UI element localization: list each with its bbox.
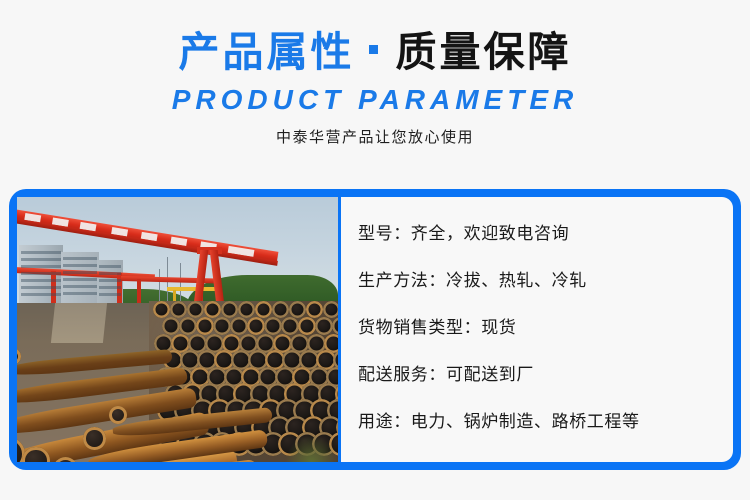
- photo-pipe-end: [323, 301, 338, 318]
- product-photo: [17, 197, 338, 462]
- photo-building-window-row: [99, 272, 121, 275]
- photo-pipe-end: [196, 317, 214, 335]
- photo-building-window-row: [63, 285, 97, 288]
- parameter-row-delivery-service: 配送服务：可配送到厂: [358, 364, 733, 386]
- page-subtitle-chinese: 中泰华营产品让您放心使用: [0, 128, 750, 148]
- photo-pipe-end: [170, 301, 187, 318]
- photo-building-window-row: [21, 265, 61, 268]
- page-title: 产品属性质量保障: [0, 28, 750, 76]
- photo-long-pipe-end: [83, 427, 106, 450]
- photo-pipe-end: [230, 317, 248, 335]
- photo-pipe-end: [272, 301, 289, 318]
- photo-building-window-row: [99, 293, 121, 296]
- photo-pipe-end: [162, 317, 180, 335]
- photo-pipe-end: [255, 301, 272, 318]
- photo-pipe-end: [306, 301, 323, 318]
- photo-pipe-end: [221, 301, 238, 318]
- photo-road: [51, 303, 107, 343]
- page-title-secondary: 质量保障: [396, 29, 572, 75]
- photo-building-window-row: [99, 279, 121, 282]
- photo-pylon-2: [180, 263, 181, 303]
- photo-pipe-end: [315, 317, 333, 335]
- photo-building-window-row: [63, 292, 97, 295]
- photo-pipe-end: [264, 317, 282, 335]
- photo-building-window-row: [21, 251, 61, 254]
- photo-pipe-end: [238, 301, 255, 318]
- parameter-row-sales-type: 货物销售类型：现货: [358, 317, 733, 339]
- photo-building-window-row: [21, 258, 61, 261]
- title-separator-dot: [369, 45, 378, 54]
- photo-building-window-row: [99, 265, 121, 268]
- photo-building-window-row: [63, 257, 97, 260]
- parameter-row-model: 型号：齐全，欢迎致电咨询: [358, 223, 733, 245]
- photo-pipe-end: [179, 317, 197, 335]
- photo-pipe-end: [153, 301, 170, 318]
- page-title-primary: 产品属性: [179, 29, 355, 75]
- page-header: 产品属性质量保障 PRODUCT PARAMETER 中泰华营产品让您放心使用: [0, 0, 750, 148]
- photo-pipe-end: [213, 317, 231, 335]
- photo-pipe-end: [298, 317, 316, 335]
- photo-pipe-end: [204, 301, 221, 318]
- page-subtitle-english: PRODUCT PARAMETER: [0, 83, 750, 117]
- photo-building-window-row: [99, 286, 121, 289]
- photo-pipe-end: [187, 301, 204, 318]
- photo-building-window-row: [63, 278, 97, 281]
- photo-pipe-end: [289, 301, 306, 318]
- photo-building-window-row: [21, 286, 61, 289]
- photo-pylon-3: [159, 269, 160, 303]
- parameter-row-production-method: 生产方法：冷拔、热轧、冷轧: [358, 270, 733, 292]
- photo-building-window-row: [63, 264, 97, 267]
- photo-weeds: [285, 435, 338, 462]
- parameter-row-usage: 用途：电力、锅炉制造、路桥工程等: [358, 411, 733, 433]
- content-frame: 型号：齐全，欢迎致电咨询 生产方法：冷拔、热轧、冷轧 货物销售类型：现货 配送服…: [9, 189, 741, 470]
- photo-pipe-end: [247, 317, 265, 335]
- photo-building-window-row: [21, 272, 61, 275]
- photo-building-window-row: [21, 293, 61, 296]
- photo-pipe-end: [281, 317, 299, 335]
- photo-building-window-row: [21, 279, 61, 282]
- photo-building-window-row: [63, 271, 97, 274]
- parameter-list: 型号：齐全，欢迎致电咨询 生产方法：冷拔、热轧、冷轧 货物销售类型：现货 配送服…: [341, 197, 733, 462]
